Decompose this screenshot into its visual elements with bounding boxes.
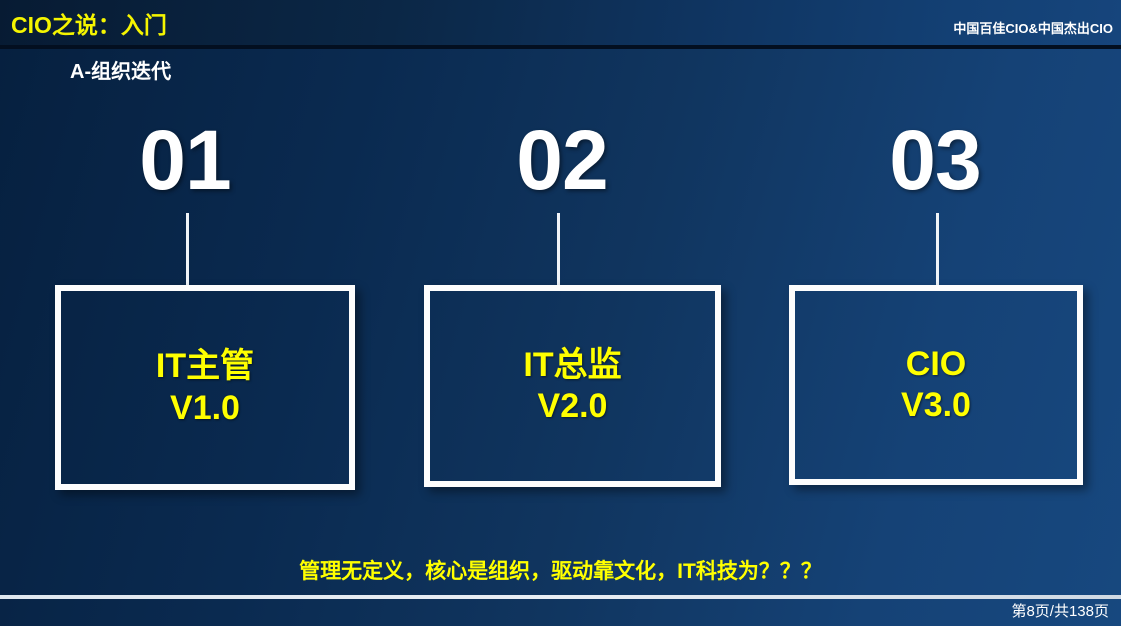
step-version-2: V2.0 — [538, 386, 608, 427]
step-title-2: IT总监 — [523, 345, 621, 386]
header-divider — [0, 45, 1121, 49]
steps-container: 01 IT主管 V1.0 02 IT总监 V2.0 03 CIO V3.0 — [0, 0, 1121, 626]
step-connector-3 — [936, 213, 939, 287]
footer-bar — [0, 599, 1121, 626]
slide-caption: 管理无定义，核心是组织，驱动靠文化，IT科技为？？？ — [0, 561, 1121, 582]
step-number-3: 03 — [835, 118, 1035, 202]
step-box-1[interactable]: IT主管 V1.0 — [55, 285, 355, 490]
step-number-2: 02 — [462, 118, 662, 202]
step-box-3[interactable]: CIO V3.0 — [789, 285, 1083, 485]
step-title-3: CIO — [906, 344, 966, 385]
step-connector-1 — [186, 213, 189, 287]
page-indicator: 第8页/共138页 — [1011, 604, 1109, 619]
step-title-1: IT主管 — [156, 346, 254, 387]
step-version-3: V3.0 — [901, 385, 971, 426]
slide: CIO之说：入门 中国百佳CIO&中国杰出CIO A-组织迭代 01 IT主管 … — [0, 0, 1121, 626]
section-label: A-组织迭代 — [70, 62, 171, 82]
step-number-1: 01 — [85, 118, 285, 202]
page-title: CIO之说：入门 — [11, 14, 167, 37]
step-box-2[interactable]: IT总监 V2.0 — [424, 285, 721, 487]
brand-label: 中国百佳CIO&中国杰出CIO — [953, 22, 1113, 35]
step-connector-2 — [557, 213, 560, 287]
step-version-1: V1.0 — [170, 388, 240, 429]
